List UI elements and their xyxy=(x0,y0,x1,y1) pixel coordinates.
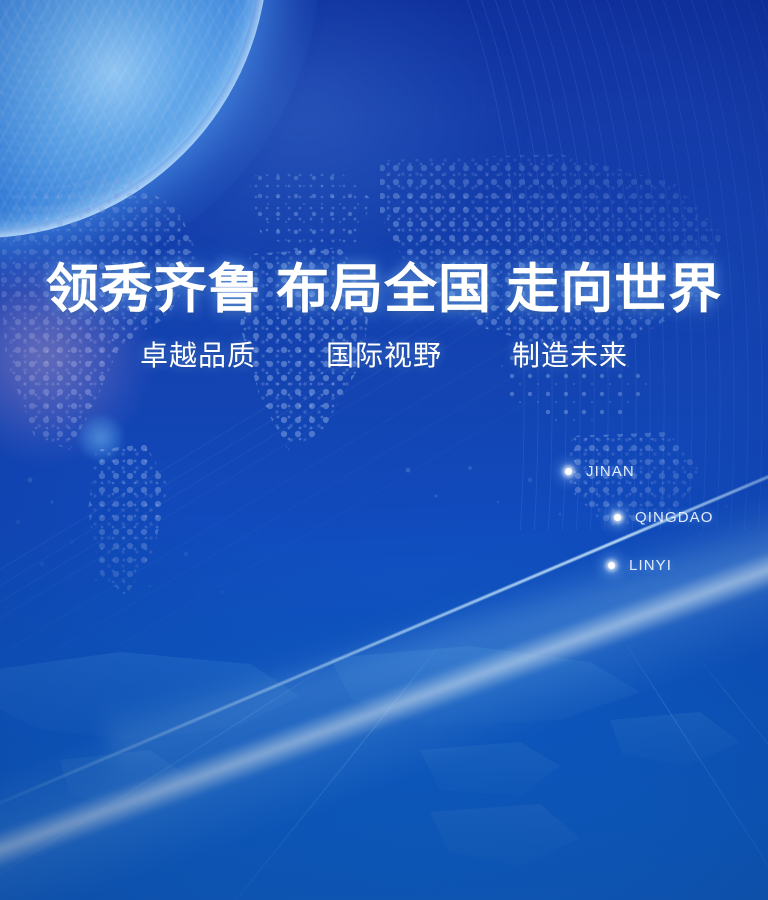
headline-block: 领秀齐鲁 布局全国 走向世界 卓越品质 国际视野 制造未来 xyxy=(0,262,768,374)
subtitle: 卓越品质 国际视野 制造未来 xyxy=(0,340,768,374)
city-label-linyi: LINYI xyxy=(629,557,672,574)
hero-banner: 领秀齐鲁 布局全国 走向世界 卓越品质 国际视野 制造未来 JINAN QING… xyxy=(0,0,768,900)
subtitle-part-1: 卓越品质 xyxy=(140,341,256,372)
page-title: 领秀齐鲁 布局全国 走向世界 xyxy=(0,262,768,318)
map-pin-icon xyxy=(614,514,621,521)
city-label-qingdao: QINGDAO xyxy=(635,509,714,526)
subtitle-part-2: 国际视野 xyxy=(326,341,442,372)
city-marker-qingdao[interactable]: QINGDAO xyxy=(614,509,714,526)
city-marker-jinan[interactable]: JINAN xyxy=(565,463,635,480)
map-pin-icon xyxy=(565,468,572,475)
city-marker-linyi[interactable]: LINYI xyxy=(608,557,672,574)
lens-flare-cyan xyxy=(78,415,124,461)
subtitle-part-3: 制造未来 xyxy=(512,341,628,372)
map-pin-icon xyxy=(608,562,615,569)
city-label-jinan: JINAN xyxy=(586,463,635,480)
